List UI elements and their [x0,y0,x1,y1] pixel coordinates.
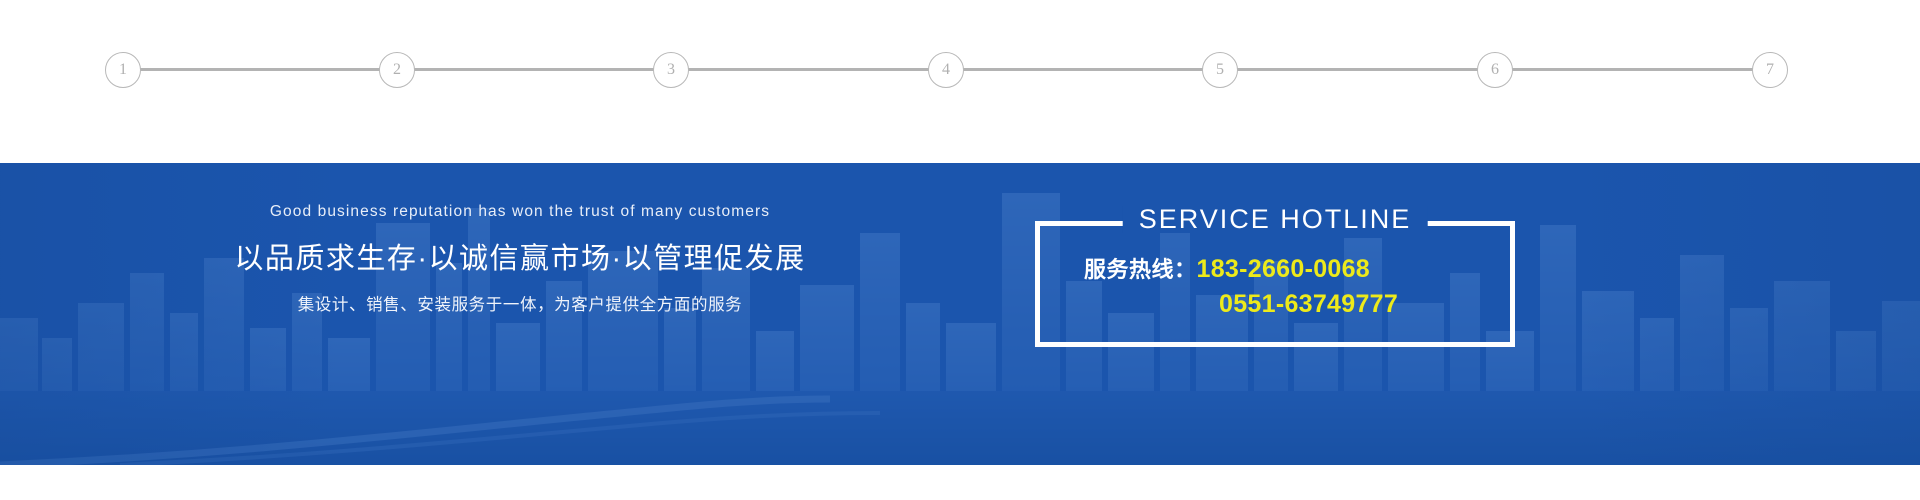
step-circle-4[interactable]: 4 [928,52,964,88]
slogan-subtext: 集设计、销售、安装服务于一体，为客户提供全方面的服务 [0,291,1040,315]
service-hotline-rows: 服务热线： 183-2660-0068 0551-63749777 [1040,252,1510,319]
hotline-row-primary: 服务热线： 183-2660-0068 [1040,252,1510,284]
step-label: 2 [393,62,401,78]
slogan-english: Good business reputation has won the tru… [0,203,1040,221]
step-indicator: 1 2 3 4 5 6 7 [0,0,1920,163]
step-label: 4 [942,62,950,78]
step-label: 5 [1216,62,1224,78]
step-circle-3[interactable]: 3 [653,52,689,88]
slogan-block: Good business reputation has won the tru… [0,203,1040,315]
step-label: 7 [1766,62,1774,78]
step-label: 1 [119,62,127,78]
step-label: 3 [667,62,675,78]
slogan-headline: 以品质求生存·以诚信赢市场·以管理促发展 [0,235,1040,277]
step-circle-5[interactable]: 5 [1202,52,1238,88]
hotline-number-mobile[interactable]: 183-2660-0068 [1197,255,1371,284]
step-circle-7[interactable]: 7 [1752,52,1788,88]
step-circle-2[interactable]: 2 [379,52,415,88]
promo-banner: Good business reputation has won the tru… [0,163,1920,465]
service-hotline-box: SERVICE HOTLINE 服务热线： 183-2660-0068 0551… [1035,221,1515,347]
page-root: 1 2 3 4 5 6 7 [0,0,1920,500]
service-hotline-title: SERVICE HOTLINE [1123,206,1428,233]
hotline-row-secondary: 0551-63749777 [1040,290,1510,319]
step-circle-6[interactable]: 6 [1477,52,1513,88]
step-circle-1[interactable]: 1 [105,52,141,88]
step-label: 6 [1491,62,1499,78]
hotline-number-landline[interactable]: 0551-63749777 [1219,290,1398,319]
hotline-label: 服务热线： [1084,252,1197,284]
